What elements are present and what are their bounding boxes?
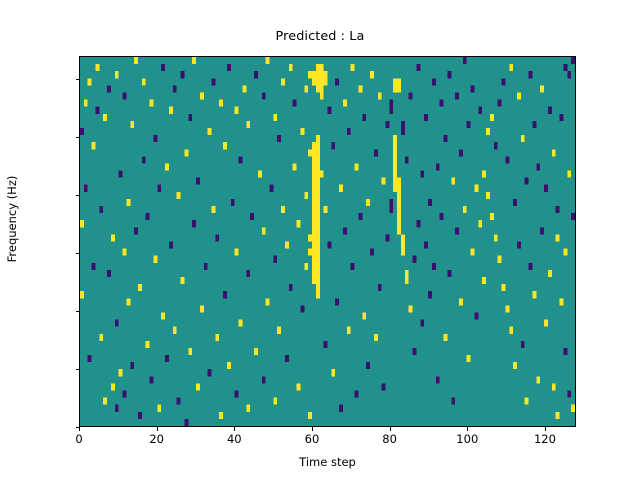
heatmap-cell (223, 291, 227, 298)
heatmap-cell (308, 234, 312, 241)
heatmap-cell (490, 213, 494, 220)
heatmap-cell (289, 64, 293, 71)
heatmap-cell (490, 114, 494, 121)
heatmap-cell (416, 220, 420, 227)
heatmap-cell (188, 114, 192, 121)
heatmap-cell (316, 270, 320, 277)
x-tick-label: 100 (456, 432, 478, 446)
heatmap-cell (532, 291, 536, 298)
heatmap-cell (188, 348, 192, 355)
heatmap-cell (397, 178, 401, 185)
heatmap-cell (88, 78, 92, 85)
heatmap-cell (142, 78, 146, 85)
heatmap-cell (389, 107, 393, 114)
matplotlib-figure: Predicted : La Frequency (Hz) 0200004000… (0, 0, 640, 480)
heatmap-cell (184, 149, 188, 156)
heatmap-cell (343, 227, 347, 234)
heatmap-cell (316, 291, 320, 298)
heatmap-cell (289, 284, 293, 291)
heatmap-cell (250, 213, 254, 220)
heatmap-cell (401, 128, 405, 135)
heatmap-cell (103, 398, 107, 405)
heatmap-cell (293, 163, 297, 170)
heatmap-cell (150, 100, 154, 107)
heatmap-cell (316, 85, 320, 92)
heatmap-cell (428, 199, 432, 206)
heatmap-cell (428, 291, 432, 298)
heatmap-cell (447, 71, 451, 78)
heatmap-cell (107, 270, 111, 277)
heatmap-cell (405, 270, 409, 277)
heatmap-cell (138, 284, 142, 291)
x-tick-mark (545, 427, 546, 431)
heatmap-cell (389, 199, 393, 206)
heatmap-cell (181, 277, 185, 284)
heatmap-cell (227, 64, 231, 71)
heatmap-cell (424, 114, 428, 121)
heatmap-cell (401, 234, 405, 241)
heatmap-cell (316, 249, 320, 256)
heatmap-cell (293, 100, 297, 107)
heatmap-cell (304, 192, 308, 199)
heatmap-cell (123, 249, 127, 256)
heatmap-cell (215, 234, 219, 241)
heatmap-cell (297, 220, 301, 227)
heatmap-cell (208, 369, 212, 376)
heatmap-cell (119, 171, 123, 178)
heatmap-cell (99, 334, 103, 341)
heatmap-cell (254, 71, 258, 78)
heatmap-cell (316, 206, 320, 213)
heatmap-cell (227, 362, 231, 369)
heatmap-cell (401, 121, 405, 128)
heatmap-cell (324, 78, 328, 85)
heatmap-cell (420, 320, 424, 327)
heatmap-cell (502, 78, 506, 85)
heatmap-cell (331, 142, 335, 149)
heatmap-cell (316, 171, 320, 178)
heatmap-cell (413, 348, 417, 355)
heatmap-cell (397, 78, 401, 85)
heatmap-cell (111, 234, 115, 241)
heatmap-cell (281, 206, 285, 213)
heatmap-cell (312, 234, 316, 241)
heatmap-cell (312, 227, 316, 234)
heatmap-cell (277, 327, 281, 334)
heatmap-cell (173, 327, 177, 334)
heatmap-cell (316, 227, 320, 234)
heatmap-cell (119, 369, 123, 376)
heatmap-cell (540, 85, 544, 92)
heatmap-cell (258, 171, 262, 178)
heatmap-cell (324, 206, 328, 213)
heatmap-cell (335, 78, 339, 85)
heatmap-cell (269, 185, 273, 192)
heatmap-cell (463, 206, 467, 213)
heatmap-cell (351, 64, 355, 71)
heatmap-cell (498, 100, 502, 107)
heatmap-cell (386, 234, 390, 241)
heatmap-cell (347, 128, 351, 135)
heatmap-cell (316, 135, 320, 142)
heatmap-cell (223, 142, 227, 149)
heatmap-cell (308, 149, 312, 156)
heatmap-cell (362, 114, 366, 121)
heatmap-cell (393, 78, 397, 85)
heatmap-cell (123, 92, 127, 99)
x-tick-mark (467, 427, 468, 431)
heatmap-cell (281, 78, 285, 85)
heatmap-cell (239, 156, 243, 163)
heatmap-cell (436, 163, 440, 170)
heatmap-cell (397, 192, 401, 199)
heatmap-cell (273, 114, 277, 121)
heatmap-cell (370, 71, 374, 78)
heatmap-cell (440, 100, 444, 107)
heatmap-cell (571, 57, 575, 64)
heatmap-cell (146, 213, 150, 220)
heatmap-cell (246, 405, 250, 412)
heatmap-cell (502, 284, 506, 291)
heatmap-cell (208, 128, 212, 135)
heatmap-cell (312, 192, 316, 199)
heatmap-cell (328, 107, 332, 114)
heatmap-cell (316, 185, 320, 192)
heatmap-cell (382, 383, 386, 390)
heatmap-cell (374, 149, 378, 156)
heatmap-cell (320, 64, 324, 71)
x-tick-mark (79, 427, 80, 431)
heatmap-cell (130, 362, 134, 369)
heatmap-cell (146, 341, 150, 348)
heatmap-cell (312, 220, 316, 227)
heatmap-cell (401, 242, 405, 249)
heatmap-cells (80, 57, 575, 426)
heatmap-cell (312, 270, 316, 277)
heatmap-cell (467, 121, 471, 128)
heatmap-cell (424, 242, 428, 249)
heatmap-cell (486, 192, 490, 199)
heatmap-cell (165, 163, 169, 170)
heatmap-cell (316, 71, 320, 78)
heatmap-cell (157, 185, 161, 192)
heatmap-cell (88, 355, 92, 362)
heatmap-cell (459, 149, 463, 156)
heatmap-cell (165, 355, 169, 362)
heatmap-cell (300, 128, 304, 135)
heatmap-cell (308, 71, 312, 78)
heatmap-cell (266, 57, 270, 64)
heatmap-cell (362, 312, 366, 319)
heatmap-cell (560, 298, 564, 305)
heatmap-cell (192, 57, 196, 64)
heatmap-cell (366, 199, 370, 206)
heatmap-cell (312, 142, 316, 149)
heatmap-cell (312, 256, 316, 263)
heatmap-cell (126, 199, 130, 206)
heatmap-cell (397, 199, 401, 206)
heatmap-cell (416, 64, 420, 71)
heatmap-cell (103, 114, 107, 121)
heatmap-cell (393, 142, 397, 149)
heatmap-cell (130, 121, 134, 128)
heatmap-cell (328, 242, 332, 249)
heatmap-cell (567, 391, 571, 398)
heatmap-cell (474, 185, 478, 192)
heatmap-cell (486, 128, 490, 135)
heatmap-cell (316, 178, 320, 185)
heatmap-cell (478, 220, 482, 227)
heatmap-cell (393, 85, 397, 92)
heatmap-cell (355, 391, 359, 398)
heatmap-cell (320, 71, 324, 78)
heatmap-cell (339, 405, 343, 412)
y-tick-mark (76, 369, 80, 370)
heatmap-cell (451, 398, 455, 405)
heatmap-cell (397, 85, 401, 92)
heatmap-cell (482, 277, 486, 284)
heatmap-cell (405, 277, 409, 284)
heatmap-cell (316, 156, 320, 163)
x-tick-label: 60 (305, 432, 320, 446)
heatmap-cell (548, 270, 552, 277)
heatmap-cell (386, 121, 390, 128)
heatmap-cell (393, 185, 397, 192)
heatmap-cell (92, 263, 96, 270)
heatmap-cell (134, 57, 138, 64)
heatmap-cell (239, 320, 243, 327)
heatmap-cell (231, 199, 235, 206)
heatmap-cell (273, 398, 277, 405)
heatmap-cell (153, 135, 157, 142)
heatmap-cell (567, 171, 571, 178)
heatmap-cell (366, 362, 370, 369)
heatmap-cell (177, 398, 181, 405)
heatmap-cell (277, 135, 281, 142)
heatmap-cell (262, 92, 266, 99)
heatmap-cell (509, 64, 513, 71)
heatmap-cell (266, 298, 270, 305)
heatmap-cell (312, 242, 316, 249)
heatmap-cell (312, 156, 316, 163)
heatmap-cell (556, 234, 560, 241)
heatmap-cell (142, 156, 146, 163)
heatmap-cell (444, 334, 448, 341)
heatmap-cell (560, 114, 564, 121)
heatmap-cell (513, 199, 517, 206)
heatmap-cell (161, 312, 165, 319)
heatmap-cell (358, 85, 362, 92)
x-tick-label: 20 (149, 432, 164, 446)
heatmap-cell (347, 327, 351, 334)
heatmap-cell (544, 185, 548, 192)
heatmap-cell (173, 85, 177, 92)
heatmap-cell (393, 171, 397, 178)
heatmap-cell (393, 135, 397, 142)
heatmap-cell (204, 263, 208, 270)
x-tick-mark (312, 427, 313, 431)
y-tick-mark (76, 253, 80, 254)
heatmap-cell (123, 391, 127, 398)
heatmap-cell (440, 213, 444, 220)
heatmap-cell (351, 263, 355, 270)
heatmap-cell (235, 107, 239, 114)
heatmap-cell (316, 64, 320, 71)
heatmap-cell (316, 284, 320, 291)
x-tick-label: 80 (382, 432, 397, 446)
heatmap-cell (297, 383, 301, 390)
heatmap-cell (432, 263, 436, 270)
heatmap-cell (370, 249, 374, 256)
heatmap-cell (285, 355, 289, 362)
heatmap-cell (181, 71, 185, 78)
heatmap-cell (196, 178, 200, 185)
heatmap-cell (444, 135, 448, 142)
heatmap-cell (389, 100, 393, 107)
heatmap-cell (308, 412, 312, 419)
heatmap-cell (552, 149, 556, 156)
heatmap-cell (513, 362, 517, 369)
heatmap-cell (126, 298, 130, 305)
heatmap-cell (312, 149, 316, 156)
heatmap-cell (312, 263, 316, 270)
heatmap-cell (304, 263, 308, 270)
heatmap-cell (320, 92, 324, 99)
heatmap-cell (494, 142, 498, 149)
heatmap-cell (169, 242, 173, 249)
y-tick-mark (76, 137, 80, 138)
heatmap-cell (339, 185, 343, 192)
heatmap-cell (316, 142, 320, 149)
heatmap-cell (521, 341, 525, 348)
heatmap-cell (115, 320, 119, 327)
heatmap-cell (525, 398, 529, 405)
heatmap-cell (517, 242, 521, 249)
heatmap-cell (312, 171, 316, 178)
heatmap-cell (521, 135, 525, 142)
heatmap-cell (192, 220, 196, 227)
heatmap-cell (536, 163, 540, 170)
heatmap-cell (246, 270, 250, 277)
heatmap-cell (262, 227, 266, 234)
heatmap-cell (95, 107, 99, 114)
heatmap-cell (544, 320, 548, 327)
heatmap-cell (196, 383, 200, 390)
heatmap-cell (397, 227, 401, 234)
heatmap-cell (397, 220, 401, 227)
heatmap-cell (99, 206, 103, 213)
heatmap-cell (219, 100, 223, 107)
heatmap-cell (432, 78, 436, 85)
heatmap-cell (107, 85, 111, 92)
heatmap-cell (474, 312, 478, 319)
x-axis-label: Time step (79, 455, 576, 469)
y-tick-mark (76, 79, 80, 80)
heatmap-cell (378, 284, 382, 291)
x-tick-label: 120 (534, 432, 556, 446)
heatmap-cell (463, 57, 467, 64)
heatmap-cell (312, 185, 316, 192)
heatmap-cell (397, 206, 401, 213)
heatmap-cell (556, 412, 560, 419)
heatmap-cell (262, 376, 266, 383)
heatmap-cell (254, 348, 258, 355)
heatmap-cell (95, 64, 99, 71)
heatmap-cell (393, 156, 397, 163)
heatmap-cell (571, 213, 575, 220)
heatmap-cell (436, 376, 440, 383)
heatmap-cell (300, 305, 304, 312)
heatmap-cell (343, 100, 347, 107)
heatmap-cell (312, 213, 316, 220)
heatmap-cell (316, 263, 320, 270)
heatmap-cell (320, 78, 324, 85)
heatmap-cell (219, 412, 223, 419)
heatmap-cell (355, 163, 359, 170)
heatmap-cell (397, 213, 401, 220)
heatmap-cell (211, 78, 215, 85)
heatmap-cell (312, 71, 316, 78)
heatmap-cell (552, 383, 556, 390)
heatmap-cell (316, 149, 320, 156)
heatmap-cell (312, 277, 316, 284)
heatmap-cell (413, 256, 417, 263)
heatmap-cell (397, 185, 401, 192)
heatmap-cell (382, 178, 386, 185)
heatmap-cell (409, 92, 413, 99)
x-tick-label: 40 (227, 432, 242, 446)
heatmap-cell (150, 376, 154, 383)
heatmap-cell (316, 78, 320, 85)
heatmap-cell (312, 249, 316, 256)
heatmap-cell (374, 334, 378, 341)
heatmap-cell (111, 383, 115, 390)
heatmap-cell (389, 206, 393, 213)
heatmap-cell (235, 249, 239, 256)
heatmap-cell (471, 249, 475, 256)
y-tick-mark (76, 311, 80, 312)
heatmap-cell (324, 341, 328, 348)
heatmap-cell (246, 121, 250, 128)
heatmap-cell (563, 64, 567, 71)
heatmap-cell (312, 206, 316, 213)
heatmap-cell (478, 107, 482, 114)
heatmap-cell (505, 305, 509, 312)
heatmap-cell (169, 107, 173, 114)
heatmap-cell (409, 305, 413, 312)
heatmap-cell (215, 334, 219, 341)
heatmap-cell (471, 85, 475, 92)
heatmap-cell (115, 405, 119, 412)
heatmap-cell (517, 92, 521, 99)
heatmap-cell (498, 256, 502, 263)
heatmap-cell (525, 178, 529, 185)
heatmap-cell (532, 121, 536, 128)
heatmap-cell (211, 206, 215, 213)
heatmap-cell (308, 249, 312, 256)
heatmap-cell (324, 71, 328, 78)
heatmap-cell (138, 412, 142, 419)
heatmap-cell (455, 227, 459, 234)
heatmap-cell (401, 249, 405, 256)
heatmap-cell (80, 128, 84, 135)
heatmap-cell (563, 348, 567, 355)
heatmap-cell (312, 199, 316, 206)
heatmap-cell (451, 178, 455, 185)
heatmap-cell (393, 149, 397, 156)
heatmap-cell (316, 213, 320, 220)
heatmap-cell (304, 85, 308, 92)
